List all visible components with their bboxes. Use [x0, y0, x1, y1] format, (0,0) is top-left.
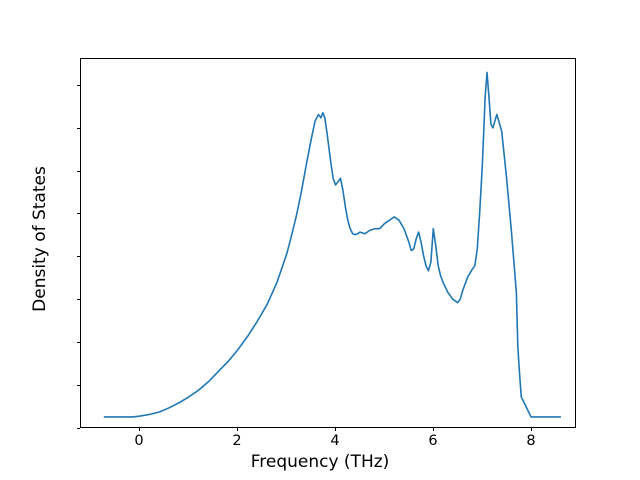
y-tick-mark — [77, 256, 81, 257]
x-tick-label-4: 8 — [526, 433, 535, 449]
y-tick-mark — [77, 342, 81, 343]
y-tick-mark — [77, 385, 81, 386]
x-tick-label-1: 2 — [232, 433, 241, 449]
y-tick-mark — [77, 128, 81, 129]
y-tick-mark — [77, 299, 81, 300]
phonon-dos-figure: 0.00 0.25 0.50 0.75 1.00 1.25 1.50 1.75 … — [0, 0, 640, 480]
x-tick-mark — [237, 427, 238, 431]
y-tick-mark — [77, 171, 81, 172]
y-axis-label: Density of States — [30, 54, 50, 424]
dos-curve — [81, 59, 575, 427]
x-axis-label: Frequency (THz) — [0, 452, 640, 472]
y-tick-mark — [77, 428, 81, 429]
plot-area — [80, 58, 576, 428]
x-tick-label-0: 0 — [134, 433, 143, 449]
x-tick-mark — [139, 427, 140, 431]
x-tick-mark — [335, 427, 336, 431]
x-tick-mark — [531, 427, 532, 431]
x-tick-label-2: 4 — [330, 433, 339, 449]
y-tick-mark — [77, 85, 81, 86]
y-tick-mark — [77, 213, 81, 214]
dos-polyline — [104, 72, 560, 416]
x-tick-label-3: 6 — [428, 433, 437, 449]
x-tick-mark — [433, 427, 434, 431]
